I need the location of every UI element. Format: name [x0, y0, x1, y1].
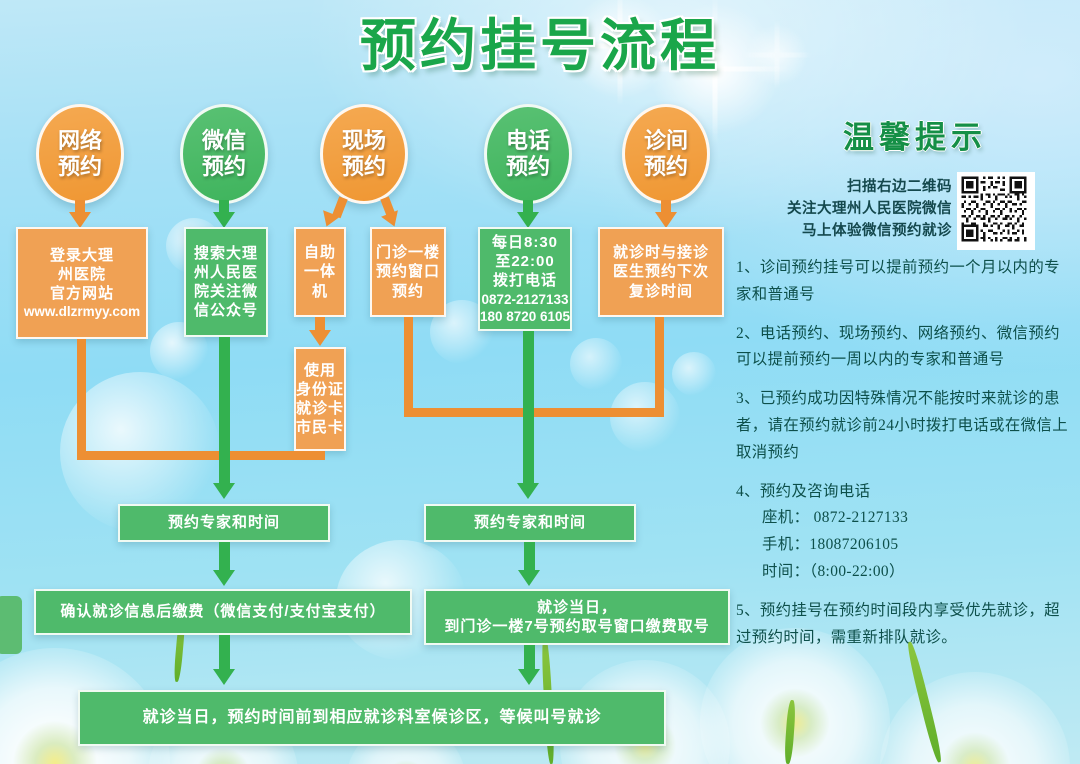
step-line-url: www.dlzrmyy.com: [24, 303, 140, 320]
step-box-pay-left[interactable]: 确认就诊信息后缴费（微信支付/支付宝支付）: [34, 589, 412, 635]
arrow-down-icon: [655, 212, 677, 228]
connector-right-bus: [404, 408, 664, 417]
connector-left-bus: [77, 451, 325, 460]
bokeh-decor: [570, 338, 622, 390]
step-box-window[interactable]: 门诊一楼 预约窗口 预约: [370, 227, 446, 317]
step-line: 院关注微: [194, 282, 258, 301]
step-box-final[interactable]: 就诊当日，预约时间前到相应就诊科室候诊区，等候叫号就诊: [78, 690, 666, 746]
channel-node-onsite[interactable]: 现场 预约: [320, 104, 408, 204]
bokeh-decor: [610, 382, 680, 452]
tip-number: 3、: [736, 390, 760, 407]
tip-number: 5、: [736, 602, 760, 619]
arrow-down-icon: [213, 669, 235, 685]
channel-label-line2: 预约: [342, 154, 386, 180]
channel-label-line2: 预约: [202, 154, 246, 180]
step-line: 预约专家和时间: [474, 513, 586, 532]
step-line: 预约窗口: [376, 262, 440, 281]
channel-label-line1: 现场: [342, 128, 386, 154]
channel-label-line1: 网络: [58, 128, 102, 154]
arrow-down-icon: [517, 483, 539, 499]
channel-label-line1: 诊间: [644, 128, 688, 154]
step-line-tel: 180 8720 6105: [480, 308, 570, 325]
tip-sub: 时间：（8:00-22:00）: [736, 559, 1072, 586]
step-box-pay-right[interactable]: 就诊当日， 到门诊一楼7号预约取号窗口缴费取号: [424, 589, 730, 645]
step-line: 信公众号: [194, 301, 258, 320]
arrow-down-icon: [213, 212, 235, 228]
step-box-web-site[interactable]: 登录大理 州医院 官方网站 www.dlzrmyy.com: [16, 227, 148, 339]
step-line: 使用: [304, 361, 336, 380]
page-title: 预约挂号流程: [0, 18, 1080, 74]
step-line: 拨打电话: [493, 271, 557, 290]
step-line: 搜索大理: [194, 244, 258, 263]
step-line: 州医院: [58, 265, 106, 284]
tip-text: 已预约成功因特殊情况不能按时来就诊的患者，请在预约就诊前24小时拨打电话或在微信…: [736, 390, 1068, 461]
flower-stem-decor: [784, 700, 796, 764]
step-line: 就诊当日，预约时间前到相应就诊科室候诊区，等候叫号就诊: [142, 708, 601, 728]
connector-windowdown: [404, 317, 413, 417]
step-line: 预约: [392, 282, 424, 301]
tip-item: 5、预约挂号在预约时间段内享受优先就诊，超过预约时间，需重新排队就诊。: [736, 598, 1072, 652]
channel-node-wechat[interactable]: 微信 预约: [180, 104, 268, 204]
qr-code-svg: [959, 174, 1029, 244]
tip-item: 1、诊间预约挂号可以提前预约一个月以内的专家和普通号: [736, 255, 1072, 309]
tip-text: 预约及咨询电话: [760, 483, 871, 500]
step-line: 州人民医: [194, 263, 258, 282]
channel-label-line2: 预约: [644, 154, 688, 180]
channel-label-line2: 预约: [506, 154, 550, 180]
connector-pay-left-down: [219, 635, 230, 671]
step-line-tel: 0872-2127133: [481, 291, 568, 308]
step-box-clinic-info[interactable]: 就诊时与接诊 医生预约下次 复诊时间: [598, 227, 724, 317]
step-line: 预约专家和时间: [168, 513, 280, 532]
step-line: 至22:00: [495, 252, 554, 271]
tips-heading: 温馨提示: [790, 112, 1040, 157]
channel-label-line1: 微信: [202, 128, 246, 154]
flower-stem-decor: [0, 596, 22, 654]
step-line: 官方网站: [50, 284, 114, 303]
poster-canvas: 预约挂号流程 网络 预约 微信 预约 现场 预约 电话 预约 诊间 预约 登录大…: [0, 0, 1080, 764]
qr-code-image: [957, 172, 1035, 250]
connector-wechat-spine: [219, 337, 230, 485]
tip-number: 1、: [736, 259, 760, 276]
step-box-kiosk-cards[interactable]: 使用 身份证 就诊卡 市民卡: [294, 347, 346, 451]
step-line: 每日8:30: [492, 233, 558, 252]
step-line: 市民卡: [296, 418, 344, 437]
step-box-phone-info[interactable]: 每日8:30 至22:00 拨打电话 0872-2127133 180 8720…: [478, 227, 572, 331]
qr-caption-line: 马上体验微信预约就诊: [740, 220, 952, 242]
tip-item: 3、已预约成功因特殊情况不能按时来就诊的患者，请在预约就诊前24小时拨打电话或在…: [736, 386, 1072, 466]
channel-label-line2: 预约: [58, 154, 102, 180]
step-line: 自助: [304, 243, 336, 262]
tip-text: 电话预约、现场预约、网络预约、微信预约可以提前预约一周以内的专家和普通号: [736, 325, 1060, 369]
step-line: 就诊时与接诊: [613, 243, 709, 262]
step-line: 复诊时间: [629, 282, 693, 301]
tip-sub: 手机：18087206105: [736, 532, 1072, 559]
arrow-down-icon: [517, 212, 539, 228]
step-line: 一体: [304, 262, 336, 281]
connector-phone-spine: [523, 331, 534, 485]
qr-caption-line: 关注大理州人民医院微信: [740, 198, 952, 220]
arrow-down-icon: [309, 330, 331, 346]
connector-clinicdown: [655, 317, 664, 417]
channel-node-clinic[interactable]: 诊间 预约: [622, 104, 710, 204]
channel-node-phone[interactable]: 电话 预约: [484, 104, 572, 204]
connector-appoint-right-down: [524, 542, 535, 572]
channel-label-line1: 电话: [506, 128, 550, 154]
step-line: 身份证: [296, 380, 344, 399]
step-line: 机: [312, 282, 328, 301]
tips-list: 1、诊间预约挂号可以提前预约一个月以内的专家和普通号 2、电话预约、现场预约、网…: [736, 255, 1072, 663]
tip-item: 2、电话预约、现场预约、网络预约、微信预约可以提前预约一周以内的专家和普通号: [736, 321, 1072, 375]
step-box-appoint-right[interactable]: 预约专家和时间: [424, 504, 636, 542]
channel-node-web[interactable]: 网络 预约: [36, 104, 124, 204]
dandelion-decor: [880, 672, 1070, 764]
tip-text: 预约挂号在预约时间段内享受优先就诊，超过预约时间，需重新排队就诊。: [736, 602, 1060, 646]
bokeh-decor: [672, 352, 716, 396]
tip-number: 2、: [736, 325, 760, 342]
step-line: 登录大理: [50, 246, 114, 265]
arrow-down-icon: [69, 212, 91, 228]
step-line: 门诊一楼: [376, 243, 440, 262]
tip-number: 4、: [736, 483, 760, 500]
arrow-down-icon: [213, 483, 235, 499]
arrow-down-icon: [213, 570, 235, 586]
connector-websitedown: [77, 339, 86, 459]
qr-caption: 扫描右边二维码 关注大理州人民医院微信 马上体验微信预约就诊: [740, 176, 952, 242]
step-box-appoint-left[interactable]: 预约专家和时间: [118, 504, 330, 542]
step-box-kiosk[interactable]: 自助 一体 机: [294, 227, 346, 317]
step-line: 就诊卡: [296, 399, 344, 418]
connector-appoint-left-down: [219, 542, 230, 572]
tip-item: 4、预约及咨询电话 座机： 0872-2127133 手机：1808720610…: [736, 479, 1072, 586]
step-line: 到门诊一楼7号预约取号窗口缴费取号: [444, 617, 709, 636]
step-line: 就诊当日，: [537, 598, 617, 617]
arrow-down-icon: [518, 669, 540, 685]
tip-text: 诊间预约挂号可以提前预约一个月以内的专家和普通号: [736, 259, 1060, 303]
step-box-wechat-oa[interactable]: 搜索大理 州人民医 院关注微 信公众号: [184, 227, 268, 337]
connector-pay-right-down: [524, 645, 535, 671]
qr-caption-line: 扫描右边二维码: [740, 176, 952, 198]
tip-sub: 座机： 0872-2127133: [736, 505, 1072, 532]
step-line: 医生预约下次: [613, 262, 709, 281]
arrow-down-icon: [518, 570, 540, 586]
step-line: 确认就诊信息后缴费（微信支付/支付宝支付）: [60, 602, 385, 621]
